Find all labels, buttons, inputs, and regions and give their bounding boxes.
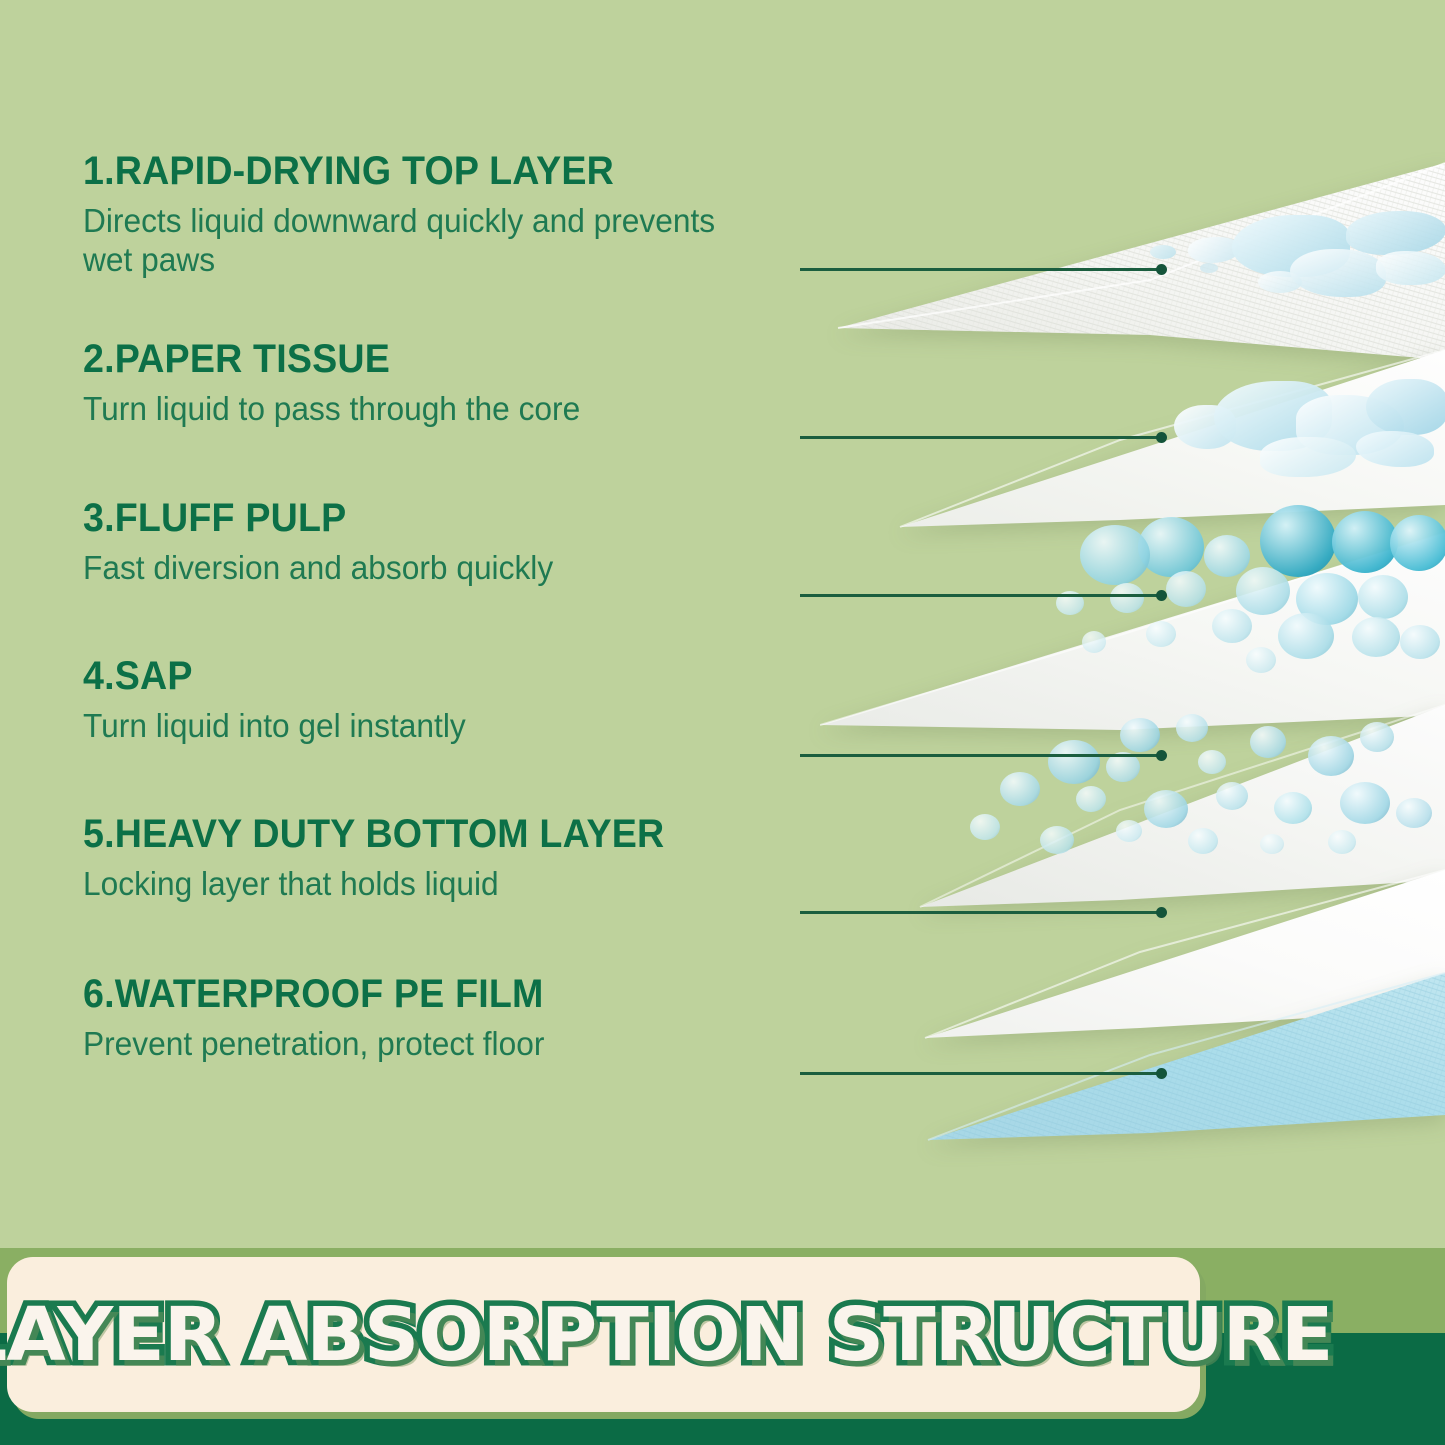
layer-description-3: Fast diversion and absorb quickly xyxy=(83,549,755,588)
layer-title-5: 5.HEAVY DUTY BOTTOM LAYER xyxy=(83,813,741,855)
layer-description-5: Locking layer that holds liquid xyxy=(83,865,755,904)
layer-item-3: 3.FLUFF PULP Fast diversion and absorb q… xyxy=(83,497,783,588)
layer-title-1: 1.RAPID-DRYING TOP LAYER xyxy=(83,150,741,192)
layer-item-4: 4.SAP Turn liquid into gel instantly xyxy=(83,655,783,746)
layer-title-4: 4.SAP xyxy=(83,655,741,697)
layer-description-1: Directs liquid downward quickly and prev… xyxy=(83,202,755,280)
layer-title-2: 2.PAPER TISSUE xyxy=(83,338,741,380)
leader-dot-5 xyxy=(1156,907,1167,918)
leader-line-6 xyxy=(800,1072,1162,1075)
layer-item-2: 2.PAPER TISSUE Turn liquid to pass throu… xyxy=(83,338,783,429)
layer-item-1: 1.RAPID-DRYING TOP LAYER Directs liquid … xyxy=(83,150,783,280)
leader-dot-4 xyxy=(1156,750,1167,761)
leader-dot-2 xyxy=(1156,432,1167,443)
layer-item-6: 6.WATERPROOF PE FILM Prevent penetration… xyxy=(83,973,783,1064)
layer-title-3: 3.FLUFF PULP xyxy=(83,497,741,539)
layer-description-2: Turn liquid to pass through the core xyxy=(83,390,755,429)
water-splash-layer-1 xyxy=(1140,205,1445,320)
banner-title: 6-LAYER ABSORPTION STRUCTURE xyxy=(0,1292,1332,1378)
leader-line-1 xyxy=(800,268,1162,271)
bottom-banner: 6-LAYER ABSORPTION STRUCTURE xyxy=(7,1257,1200,1412)
leader-dot-1 xyxy=(1156,264,1167,275)
leader-dot-6 xyxy=(1156,1068,1167,1079)
gel-splash-layer-2 xyxy=(1170,375,1445,490)
leader-line-4 xyxy=(800,754,1162,757)
layer-item-5: 5.HEAVY DUTY BOTTOM LAYER Locking layer … xyxy=(83,813,783,904)
layer-title-6: 6.WATERPROOF PE FILM xyxy=(83,973,741,1015)
gel-beads-layer-3 xyxy=(960,505,1445,700)
leader-dot-3 xyxy=(1156,590,1167,601)
leader-line-3 xyxy=(800,594,1162,597)
layer-description-6: Prevent penetration, protect floor xyxy=(83,1025,755,1064)
layer-description-4: Turn liquid into gel instantly xyxy=(83,707,755,746)
layer-sheet-6-waterproof-pe-film xyxy=(820,955,1445,1170)
infographic-root: 1.RAPID-DRYING TOP LAYER Directs liquid … xyxy=(0,0,1445,1445)
exploded-layer-stack xyxy=(820,150,1445,1150)
leader-line-5 xyxy=(800,911,1162,914)
leader-line-2 xyxy=(800,436,1162,439)
